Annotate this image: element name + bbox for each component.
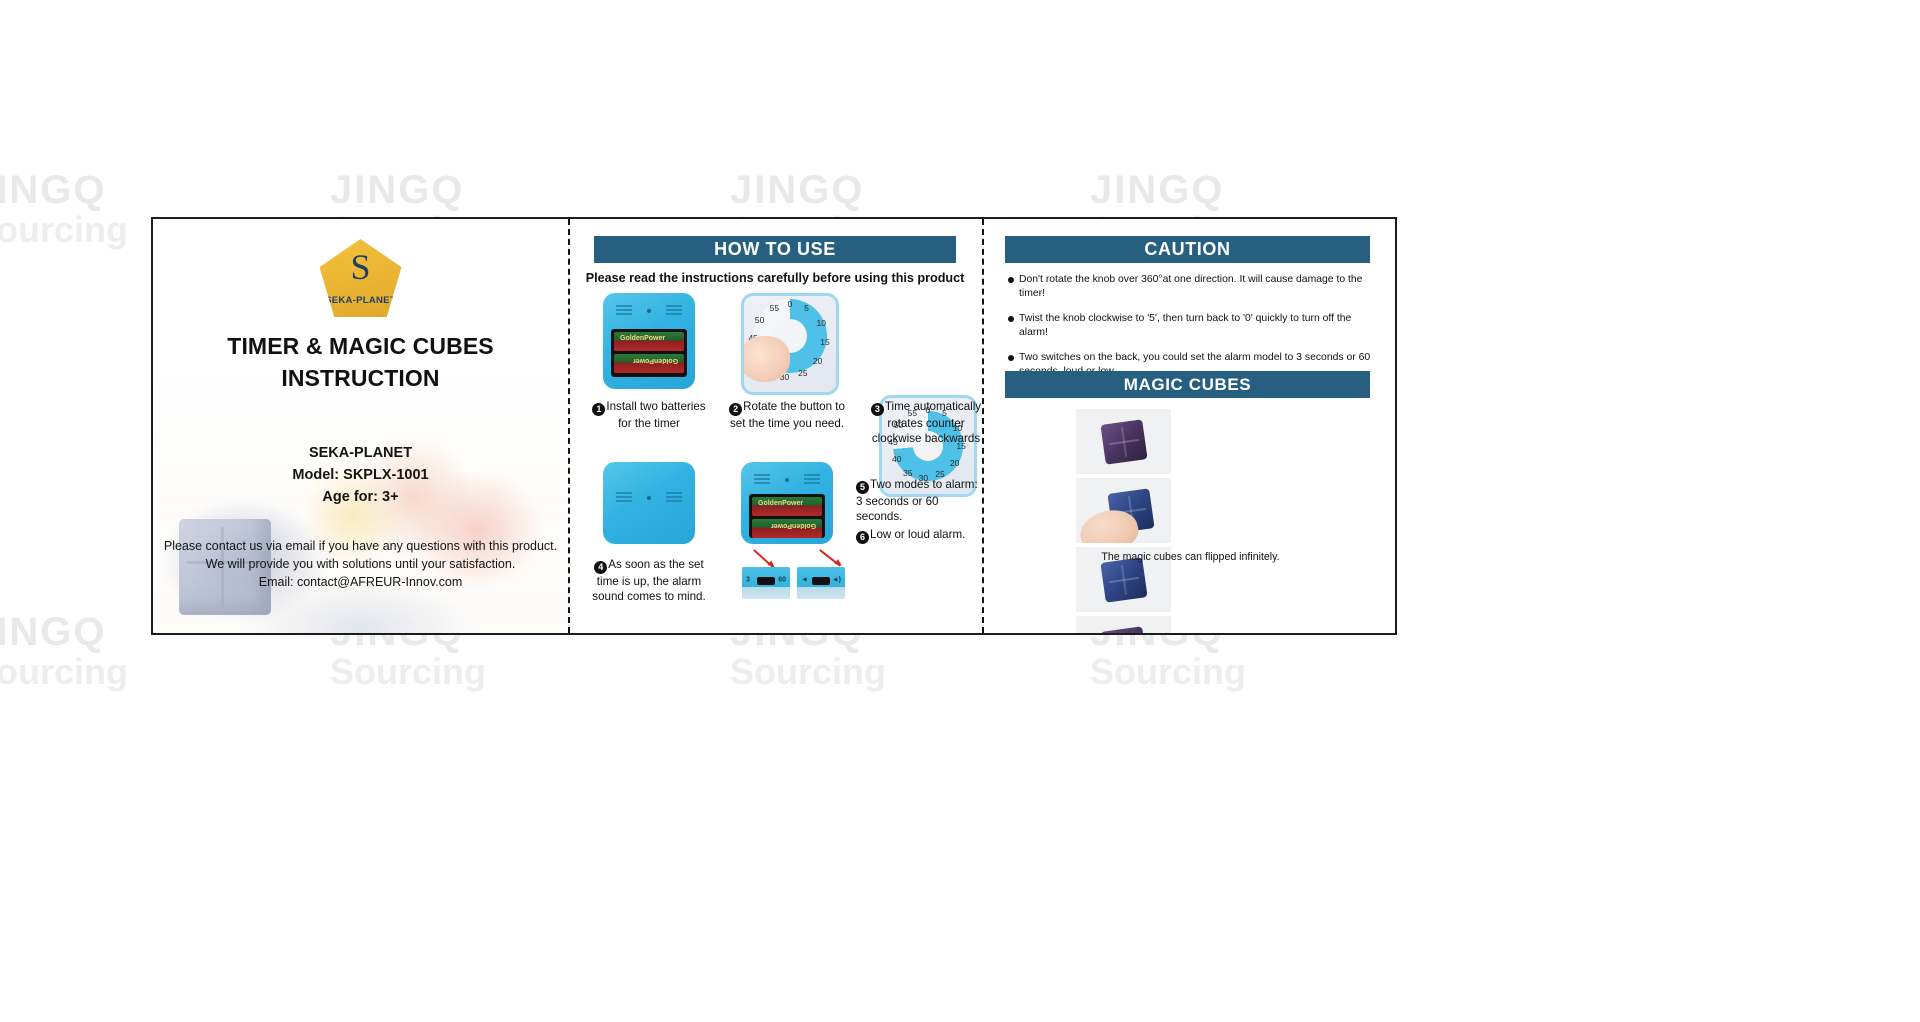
vent-left-icon [616,305,632,317]
step-number-badge: 2 [729,403,742,416]
battery-cell: GoldenPower [752,497,822,516]
watermark-line2: Sourcing [1090,654,1246,690]
banner-caution: CAUTION [1005,236,1370,263]
battery-brand-label: GoldenPower [633,357,678,364]
logo-brand-name: SEKA-PLANET [320,295,402,306]
step-5-text: Two modes to alarm: 3 seconds or 60 seco… [856,478,978,523]
watermark-line1: JINGQ [330,170,486,210]
magic-cube-photo [1076,616,1171,635]
dial-tick-5: 5 [804,303,809,313]
watermark-line1: JINGQ [0,612,128,652]
brand-logo: S SEKA-PLANET [153,239,568,322]
screenshot-canvas: JINGQ Sourcing JINGQ Sourcing JINGQ Sour… [0,0,1920,1022]
vent-left-icon [616,492,632,504]
sensor-dot-icon [647,496,651,500]
step-6-caption: 6Low or loud alarm. [856,527,978,544]
step-3-text: Time automatically rotates counter clock… [872,400,981,445]
magic-cubes-caption: The magic cubes can flipped infinitely. [982,551,1397,563]
step-1-caption: 1Install two batteries for the timer [590,399,708,431]
watermark-line2: Sourcing [730,654,886,690]
switch-closeup-duration: 3 60 [742,567,790,599]
dial-tick-20: 20 [813,356,822,366]
vent-left-icon [754,474,770,486]
page-title: TIMER & MAGIC CUBES INSTRUCTION [165,331,556,394]
instruction-leaflet: S SEKA-PLANET TIMER & MAGIC CUBES INSTRU… [151,217,1397,635]
watermark-line2: Sourcing [0,212,128,248]
dial-tick-0: 0 [788,299,793,309]
watermark-line2: Sourcing [0,654,128,690]
hand-image [741,336,790,382]
step-4-text: As soon as the set time is up, the alarm… [592,558,705,603]
logo-letter: S [320,249,402,285]
magic-cube-photo [1076,409,1171,474]
step-3-caption: 3Time automatically rotates counter cloc… [864,399,988,447]
contact-block: Please contact us via email if you have … [161,537,560,591]
step-number-badge: 4 [594,561,607,574]
bullet-icon [1008,316,1014,322]
contact-line-1: Please contact us via email if you have … [161,537,560,555]
caution-item: Twist the knob clockwise to '5', then tu… [1008,312,1383,339]
how-to-use-subheading: Please read the instructions carefully b… [578,271,972,285]
step-5-caption: 5Two modes to alarm: 3 seconds or 60 sec… [856,477,978,525]
battery-brand-label: GoldenPower [620,335,665,342]
step-1-text: Install two batteries for the timer [606,400,705,430]
dial-tick-10: 10 [817,318,826,328]
dial-tick-40: 40 [892,454,901,464]
watermark: JINGQ Sourcing [0,612,128,690]
vent-right-icon [804,474,820,486]
switch-closeup-volume: ◄ ◄) [797,567,845,599]
step-number-badge: 1 [592,403,605,416]
product-info: SEKA-PLANET Model: SKPLX-1001 Age for: 3… [153,442,568,508]
battery-cell: GoldenPower [752,519,822,538]
battery-cell: GoldenPower [614,354,684,373]
battery-cell: GoldenPower [614,332,684,351]
brand-name: SEKA-PLANET [153,442,568,464]
step-5-image-switches: GoldenPower GoldenPower [741,462,833,544]
battery-brand-label: GoldenPower [771,522,816,529]
step-number-badge: 6 [856,531,869,544]
banner-magic-cubes: MAGIC CUBES [1005,371,1370,398]
pentagon-logo-icon: S SEKA-PLANET [320,239,402,317]
vent-right-icon [666,305,682,317]
cube-image [1100,419,1147,464]
magic-cubes-gallery [1076,409,1276,635]
sensor-dot-icon [785,478,789,482]
speaker-low-icon: ◄ [801,576,808,583]
switch-label-3s: 3 [746,576,750,583]
banner-how-to-use: HOW TO USE [594,236,956,263]
caution-item: Don't rotate the knob over 360°at one di… [1008,273,1383,300]
cube-image [1100,626,1147,635]
contact-line-2: We will provide you with solutions until… [161,555,560,573]
battery-compartment: GoldenPower GoldenPower [749,494,825,538]
dial-tick-55: 55 [770,303,779,313]
watermark-line1: JINGQ [0,170,128,210]
step-4-image-alarm [603,462,695,544]
step-1-image-battery-install: GoldenPower GoldenPower [603,293,695,389]
title-line-2: INSTRUCTION [165,363,556,395]
battery-compartment: GoldenPower GoldenPower [611,329,687,377]
title-line-1: TIMER & MAGIC CUBES [165,331,556,363]
dial-tick-20: 20 [950,458,959,468]
step-2-text: Rotate the button to set the time you ne… [730,400,845,430]
step-number-badge: 5 [856,481,869,494]
caution-item-text: Twist the knob clockwise to '5', then tu… [1019,313,1351,338]
caution-item-text: Don't rotate the knob over 360°at one di… [1019,274,1362,299]
step-6-text: Low or loud alarm. [870,528,965,541]
dial-tick-25: 25 [798,368,807,378]
battery-brand-label: GoldenPower [758,500,803,507]
watermark-line1: JINGQ [730,170,886,210]
callout-arrow-right-icon [820,549,841,566]
cube-image [1100,557,1147,602]
dial-tick-15: 15 [820,337,829,347]
switch-slider-icon[interactable] [812,577,830,585]
model-number: Model: SKPLX-1001 [153,464,568,486]
bullet-icon [1008,277,1014,283]
watermark-line2: Sourcing [330,654,486,690]
switch-slider-icon[interactable] [757,577,775,585]
step-2-caption: 2Rotate the button to set the time you n… [726,399,848,431]
contact-email: Email: contact@AFREUR-Innov.com [161,573,560,591]
watermark-line1: JINGQ [1090,170,1246,210]
switch-label-60s: 60 [778,576,786,583]
step-number-badge: 3 [871,403,884,416]
callout-arrow-left-icon [753,549,773,568]
speaker-high-icon: ◄) [832,576,841,583]
step-4-caption: 4As soon as the set time is up, the alar… [588,557,710,605]
panel-caution-magic-cubes: CAUTION Don't rotate the knob over 360°a… [982,219,1397,633]
watermark: JINGQ Sourcing [0,170,128,248]
sensor-dot-icon [647,309,651,313]
dial-tick-50: 50 [755,315,764,325]
bullet-icon [1008,355,1014,361]
magic-cube-photo [1076,478,1171,543]
panel-how-to-use: HOW TO USE Please read the instructions … [568,219,982,633]
vent-right-icon [666,492,682,504]
step-2-image-rotate-knob: 0 5 10 15 20 25 30 35 40 45 50 55 [741,293,839,395]
panel-cover: S SEKA-PLANET TIMER & MAGIC CUBES INSTRU… [153,219,568,633]
age-rating: Age for: 3+ [153,486,568,508]
